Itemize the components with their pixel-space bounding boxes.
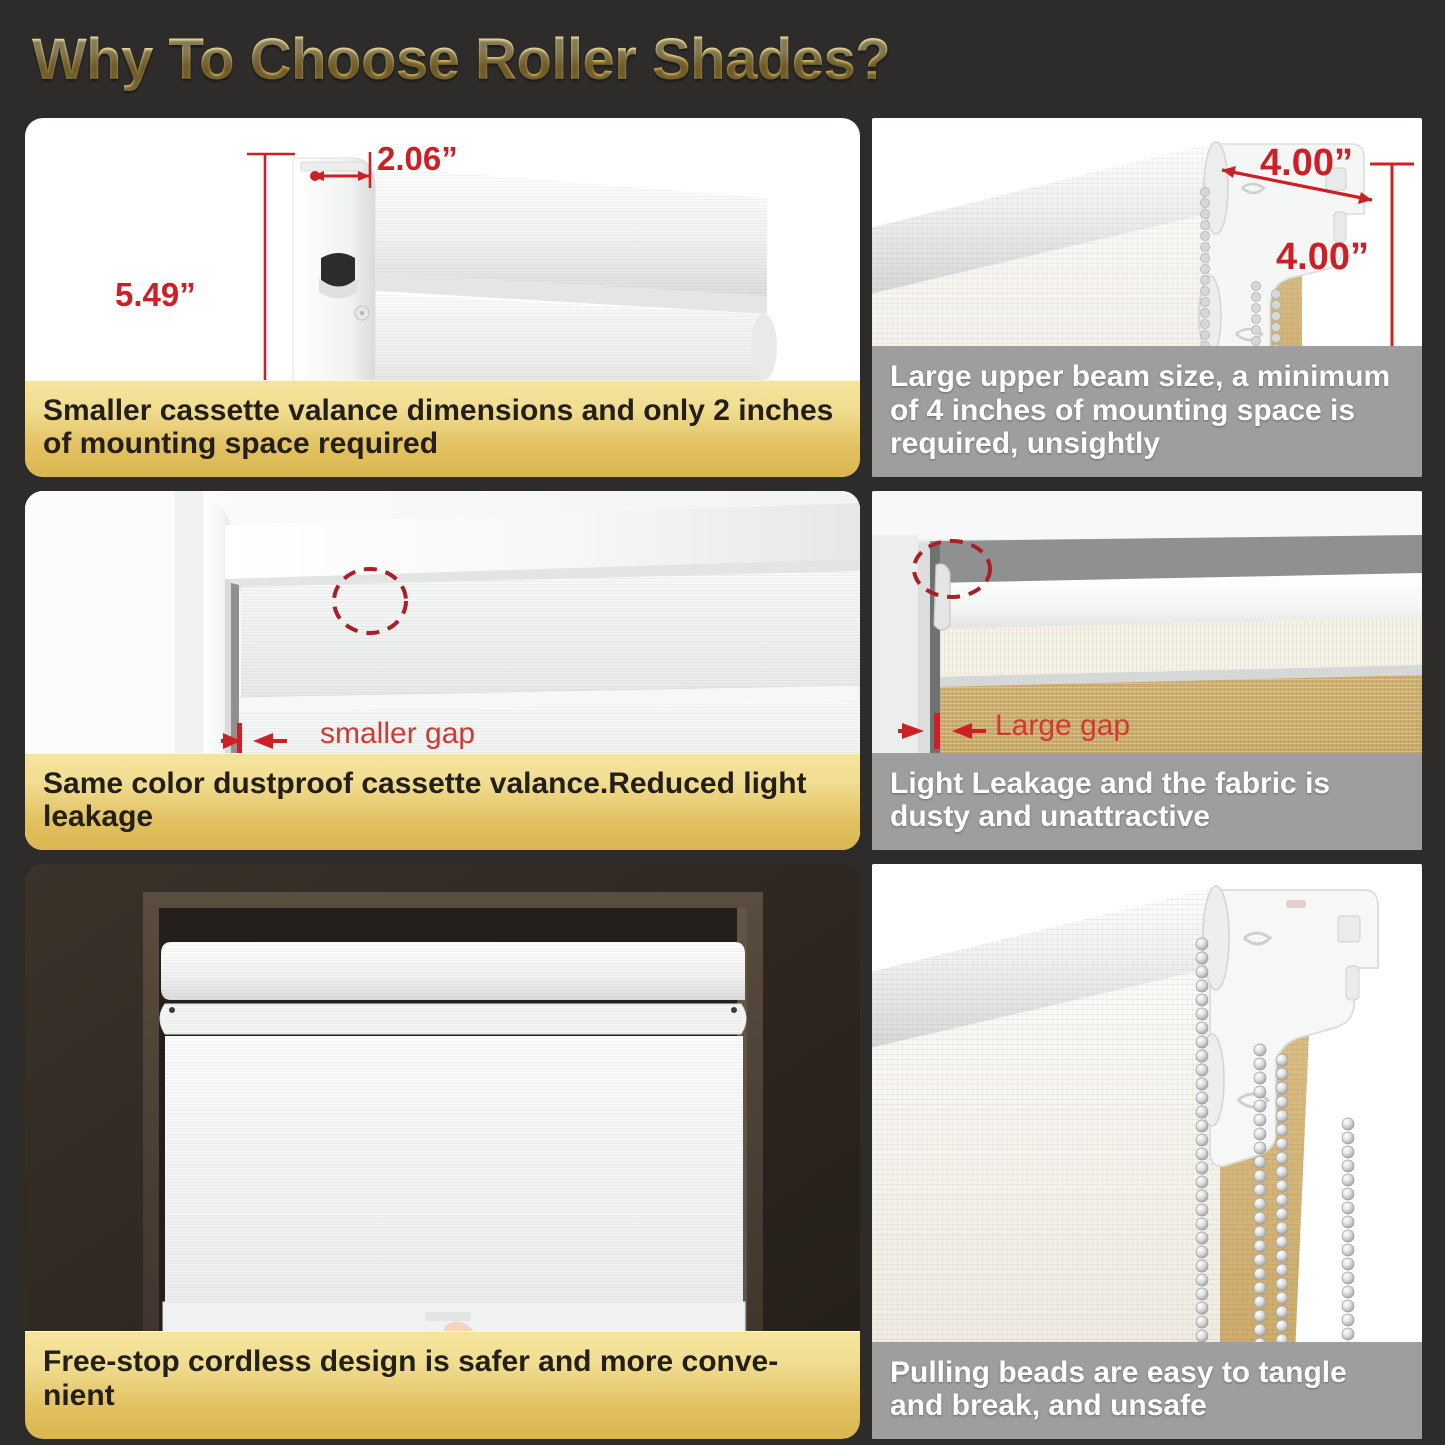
panel-caption-line2: nient (43, 1379, 844, 1413)
panel-pulling-beads: Pulling beads are easy to tangle and bre… (872, 864, 1422, 1439)
panel-caption: Light Leakage and the fabric is dusty an… (872, 753, 1422, 850)
panel-dustproof-valance: smaller gap Same color dustproof cassett… (25, 491, 860, 850)
panel-cassette-dimensions: 2.06” 5.49” Smaller cassette valance dim… (25, 118, 860, 477)
page-title: Why To Choose Roller Shades? (32, 26, 890, 93)
height-dimension-label: 5.49” (115, 276, 196, 314)
panel-caption-line1: Free-stop cordless design is safer and m… (43, 1345, 844, 1379)
panel-large-upper-beam: 4.00” 4.00” Large upper beam size, a min… (872, 118, 1422, 477)
panel-cordless-design: Free-stop cordless design is safer and m… (25, 864, 860, 1439)
width-dimension-label: 2.06” (377, 140, 458, 178)
comparison-grid: 2.06” 5.49” Smaller cassette valance dim… (0, 112, 1445, 1445)
height-dimension-label: 4.00” (1276, 236, 1369, 279)
gap-label: Large gap (995, 709, 1130, 743)
panel-caption: Same color dustproof cassette valance.Re… (25, 753, 860, 850)
panel-caption: Free-stop cordless design is safer and m… (25, 1331, 860, 1439)
panel-caption: Large upper beam size, a minimum of 4 in… (872, 346, 1422, 477)
panel-caption: Pulling beads are easy to tangle and bre… (872, 1342, 1422, 1439)
panel-caption: Smaller cassette valance dimensions and … (25, 380, 860, 477)
width-dimension-label: 4.00” (1260, 142, 1353, 185)
panel-light-leakage: Large gap Light Leakage and the fabric i… (872, 491, 1422, 850)
panel-caption-line1: Pulling beads are easy to tangle (890, 1356, 1406, 1390)
panel-caption-line2: and break, and unsafe (890, 1389, 1406, 1423)
gap-label: smaller gap (320, 717, 475, 751)
